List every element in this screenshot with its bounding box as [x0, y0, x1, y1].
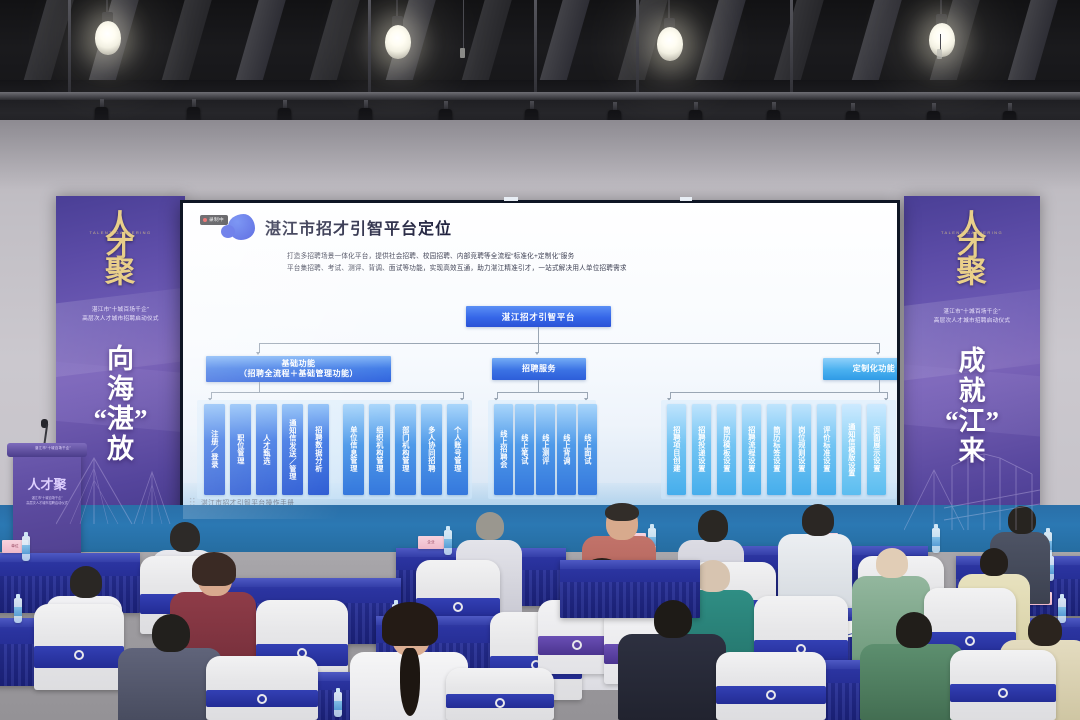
bridge-graphic: [904, 412, 1040, 532]
diagram-leaf: 单位信息管理: [343, 404, 364, 495]
diagram-leaf: 通知信发送／管理: [282, 404, 303, 495]
banner-subtitle-line1: 湛江市“十城百场千企”: [56, 306, 185, 315]
audience-chair: [446, 668, 554, 720]
diagram-leaf: 线上面试: [578, 404, 597, 495]
diagram-leaf: 招聘数据分析: [308, 404, 329, 495]
diagram-leaf: 线上背调: [557, 404, 576, 495]
diagram-leaf: 招聘投递设置: [692, 404, 711, 495]
right-banner: 人 才 TALENT GATHERING 聚 湛江市“十城百场千企” 高层次人才…: [904, 196, 1040, 532]
name-card: 企业: [418, 536, 444, 549]
audience-chair: [950, 650, 1056, 720]
diagram-branch-node-basic: 基础功能 （招聘全流程＋基础管理功能）: [206, 356, 391, 382]
diagram-leaf: 线上测评: [536, 404, 555, 495]
banner-subtitle-line2: 高层次人才城市招聘启动仪式: [56, 315, 185, 324]
presentation-screen: 录制中 湛江市招才引智平台定位 打造多招聘场景一体化平台，提供社会招聘、校园招聘…: [180, 200, 900, 522]
diagram-leaf: 简历标签设置: [767, 404, 786, 495]
branch-label-line1: 基础功能: [282, 359, 316, 370]
lighting-truss: [0, 92, 1080, 100]
bridge-graphic: [56, 406, 185, 526]
audience-chair: [206, 656, 318, 720]
diagram-leaf: 部门机构管理: [395, 404, 416, 495]
diagram-leaf: 线上笔试: [515, 404, 534, 495]
diagram-leaf: 通知信模版设置: [842, 404, 861, 495]
water-bottle: [444, 530, 452, 555]
banner-slogan-char2: 海: [56, 374, 185, 404]
banner-english-label: TALENT GATHERING: [56, 230, 185, 235]
water-bottle: [22, 536, 30, 561]
branch-label-line2: （招聘全流程＋基础管理功能）: [239, 369, 358, 380]
diagram-leaf: 个人账号管理: [447, 404, 468, 495]
diagram-leaf: 组织机构管理: [369, 404, 390, 495]
branch-label-line1: 定制化功能: [853, 364, 896, 375]
diagram-leaf: 职位管理: [230, 404, 251, 495]
left-banner: 人 才 TALENT GATHERING 聚 湛江市“十城百场千企” 高层次人才…: [56, 196, 185, 526]
banner-logo-char3: 聚: [56, 258, 185, 288]
platform-architecture-diagram: 湛江招才引智平台 基础功能 （招聘全流程＋基础管理功能） 招聘服务: [183, 203, 897, 519]
audience-chair: [34, 604, 124, 690]
diagram-leaf: 评价标准设置: [817, 404, 836, 495]
diagram-leaf: 招聘项目创建: [667, 404, 686, 495]
diagram-leaf: 招聘流程设置: [742, 404, 761, 495]
water-bottle: [1058, 598, 1066, 623]
banner-slogan-char2: 就: [904, 376, 1040, 406]
diagram-leaf: 注册／登录: [204, 404, 225, 495]
diagram-leaf: 人才甄选: [256, 404, 277, 495]
branch-label-line1: 招聘服务: [522, 364, 556, 375]
diagram-leaf: 简历模板设置: [717, 404, 736, 495]
banner-subtitle-line1: 湛江市“十城百场千企”: [904, 308, 1040, 317]
diagram-leaf: 页面展示设置: [867, 404, 886, 495]
banner-logo-char3: 聚: [904, 258, 1040, 288]
banner-subtitle-line2: 高层次人才城市招聘启动仪式: [904, 317, 1040, 326]
diagram-branch-node-custom: 定制化功能: [823, 358, 897, 380]
diagram-leaf: 岗位规则设置: [792, 404, 811, 495]
diagram-leaf: 多人协同招聘: [421, 404, 442, 495]
diagram-leaf: 线上招聘会: [494, 404, 513, 495]
audience-chair: [716, 652, 826, 720]
banner-slogan-char1: 成: [904, 346, 1040, 376]
diagram-root-node: 湛江招才引智平台: [466, 306, 611, 327]
water-bottle: [334, 692, 342, 717]
diagram-branch-node-service: 招聘服务: [492, 358, 586, 380]
wall-shadow: [0, 120, 1080, 190]
water-bottle: [14, 598, 22, 623]
conference-hall-scene: 人 才 TALENT GATHERING 聚 湛江市“十城百场千企” 高层次人才…: [0, 0, 1080, 720]
banner-english-label: TALENT GATHERING: [904, 230, 1040, 235]
banner-slogan-char1: 向: [56, 344, 185, 374]
